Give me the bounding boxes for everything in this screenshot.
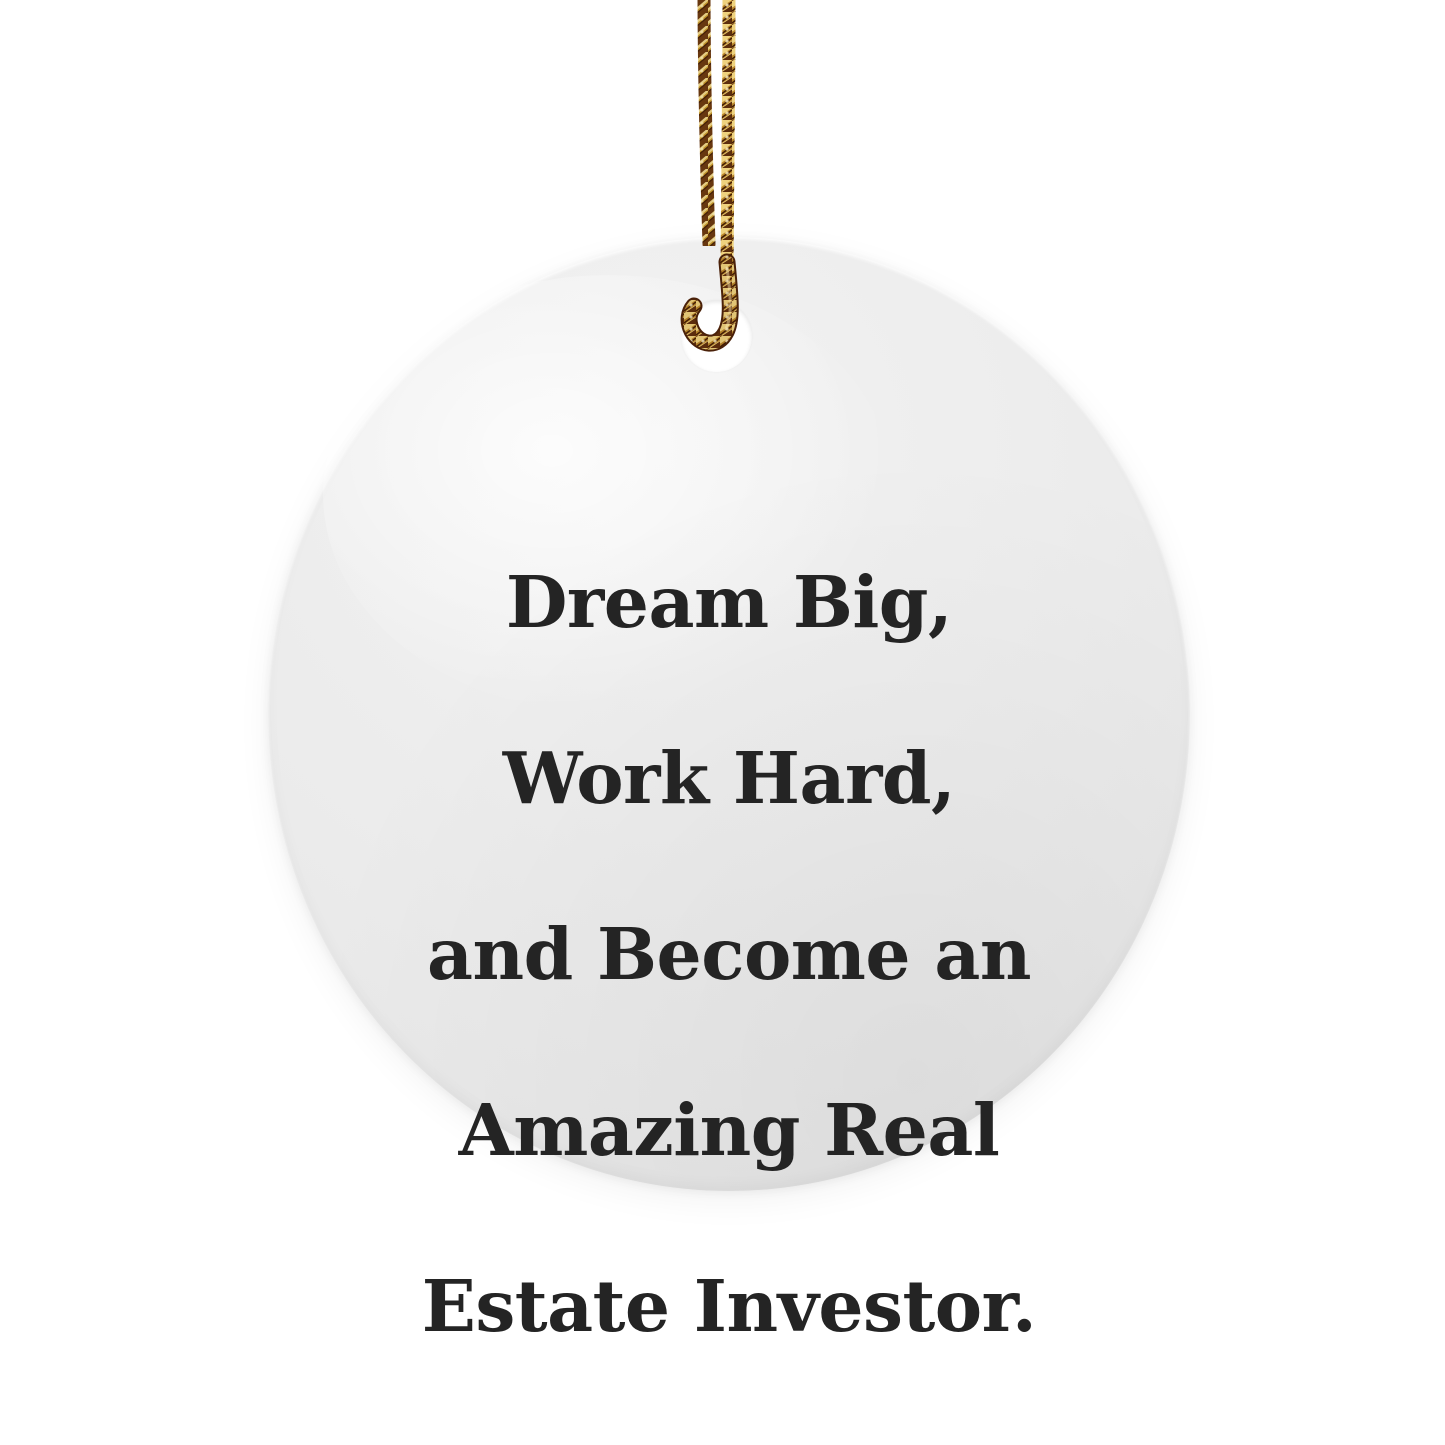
quote-line-1: Dream Big, xyxy=(268,558,1190,646)
quote-line-4: Amazing Real xyxy=(268,1086,1190,1174)
cord-strand-right xyxy=(727,0,729,268)
ornament-quote-text: Dream Big, Work Hard, and Become an Amaz… xyxy=(268,470,1190,1438)
quote-line-2: Work Hard, xyxy=(268,734,1190,822)
quote-line-3: and Become an xyxy=(268,910,1190,998)
ornament-product-image: Dream Big, Work Hard, and Become an Amaz… xyxy=(0,0,1445,1445)
ornament-hanging-hole xyxy=(681,300,752,372)
quote-line-5: Estate Investor. xyxy=(268,1262,1190,1350)
cord-strand-left xyxy=(704,0,709,244)
